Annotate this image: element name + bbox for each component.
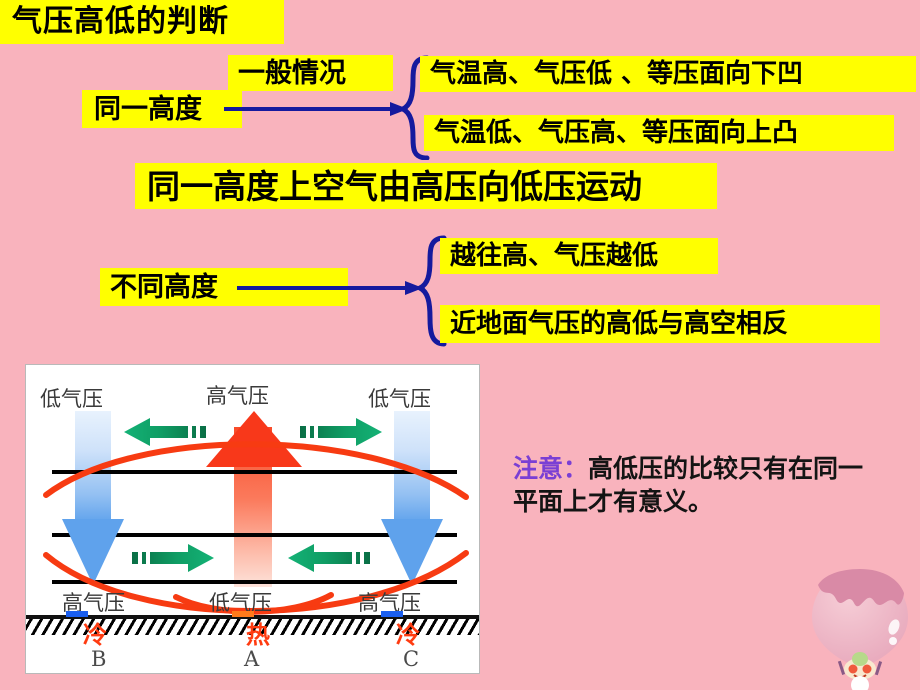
slide-canvas: 气压高低的判断 一般情况 同一高度 气温高、气压低 、等压面向下凹 气温低、气压… (0, 0, 920, 690)
surface-temp-right: 冷 (396, 615, 420, 650)
note-emphasis: 注意： (513, 454, 588, 483)
branch-different-height-1: 越往高、气压越低 (440, 238, 718, 274)
branch-different-height-2: 近地面气压的高低与高空相反 (440, 305, 880, 343)
surface-temp-center: 热 (246, 615, 270, 650)
main-statement: 同一高度上空气由高压向低压运动 (135, 163, 717, 209)
balloon-decoration-icon (800, 565, 920, 690)
surface-temp-left: 冷 (83, 615, 107, 650)
source-same-height: 同一高度 (82, 90, 242, 128)
note-block: 注意：高低压的比较只有在同一平面上才有意义。 (513, 452, 873, 518)
branch-same-height-2: 气温低、气压高、等压面向上凸 (424, 115, 894, 151)
point-label-b: B (91, 647, 106, 671)
point-label-c: C (403, 647, 419, 671)
connector-same-height (222, 50, 432, 160)
point-label-a: A (244, 647, 259, 671)
page-title: 气压高低的判断 (0, 0, 284, 44)
branch-same-height-1: 气温高、气压低 、等压面向下凹 (420, 56, 916, 92)
pressure-diagram: 低气压 高气压 低气压 (25, 364, 480, 674)
connector-different-height (225, 232, 450, 350)
